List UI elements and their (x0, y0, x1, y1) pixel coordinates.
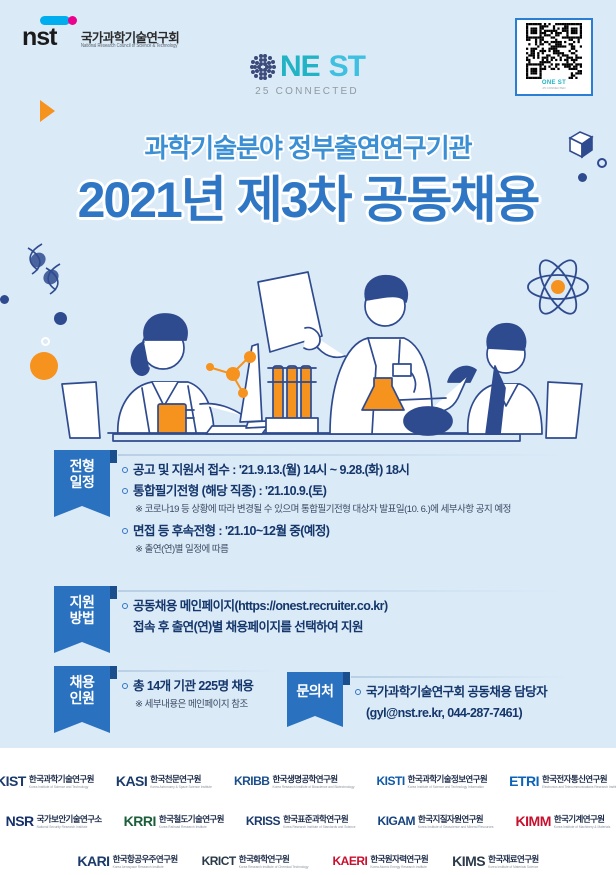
page-title: 2021년 제3차 공동채용 (0, 160, 616, 232)
partner-logo-english: Korea Institute of Science and Technolog… (408, 785, 487, 789)
partner-logo-mark: KIST (0, 773, 26, 789)
method-item-0-text[interactable]: 공동채용 메인페이지(https://onest.recruiter.co.kr… (133, 597, 592, 615)
partner-logo: KRIBB한국생명공학연구원Korea Research Institute o… (234, 766, 355, 796)
triangle-accent-icon (40, 100, 55, 122)
section-method-divider (118, 590, 568, 592)
logo-row-2: NSR국가보안기술연구소National Security Research I… (0, 806, 616, 836)
partner-logo-mark: KRISS (246, 814, 280, 828)
partner-logo-korean: 한국항공우주연구원 (113, 853, 178, 865)
partner-logo-english: Korea Astronomy & Space Science Institut… (150, 785, 212, 789)
partner-logo-english: Korea Research Institute of Bioscience a… (272, 785, 354, 789)
laboratory-illustration (0, 236, 616, 444)
partner-logo: KAERI한국원자력연구원Korea Atomic Energy Researc… (332, 846, 428, 875)
partner-logo-korean: 한국기계연구원 (554, 813, 611, 825)
section-headcount-tag: 채용 인원 (54, 666, 110, 722)
partner-logo: KIST한국과학기술연구원Korea Institute of Science … (0, 766, 94, 796)
logo-row-1: KIST한국과학기술연구원Korea Institute of Science … (0, 766, 616, 796)
schedule-item-1-note: ※ 코로나19 등 상황에 따라 변경될 수 있으며 통합필기전형 대상자 발표… (135, 503, 592, 516)
tag-fold-decoration (110, 450, 117, 463)
qr-code[interactable]: ONE ST 25 CONNECTED (515, 18, 593, 96)
partner-logo-mark: KRIBB (234, 774, 270, 788)
partner-logo-korean: 한국화학연구원 (239, 853, 309, 865)
nst-logo: nst 국가과학기술연구회 National Research Council … (22, 14, 182, 58)
partner-logo-korean: 한국지질자원연구원 (418, 813, 493, 825)
logo-row-3: KARI한국항공우주연구원Korea Aerospace Research In… (0, 846, 616, 875)
partner-logo-mark: KASI (116, 773, 147, 789)
partner-logo-english: Korea Institute of Machinery & Materials (554, 825, 611, 829)
onest-subtitle: 25 CONNECTED (232, 86, 382, 97)
method-item-0-continuation: 접속 후 출연(연)별 채용페이지를 선택하여 지원 (133, 618, 592, 636)
partner-logo-mark: NSR (6, 813, 34, 829)
partner-logo-mark: ETRI (509, 773, 539, 789)
qr-code-pattern (520, 23, 588, 79)
partner-logo: KARI한국항공우주연구원Korea Aerospace Research In… (77, 846, 177, 875)
section-method-tag-line2: 방법 (54, 610, 110, 626)
section-headcount-tag-line2: 인원 (54, 690, 110, 706)
list-item[interactable]: 공동채용 메인페이지(https://onest.recruiter.co.kr… (122, 597, 592, 615)
schedule-item-0-text: 공고 및 지원서 접수 : '21.9.13.(월) 14시 ~ 9.28.(화… (133, 461, 592, 479)
section-headcount-body: 총 14개 기관 225명 채용 ※ 세부내용은 메인페이지 참조 (122, 677, 302, 716)
onest-logo: NE ST 25 CONNECTED (232, 52, 382, 104)
dot-decoration-right (578, 173, 587, 182)
contact-item-0-continuation[interactable]: (gyl@nst.re.kr, 044-287-7461) (366, 704, 590, 722)
partner-logo-mark: KIMS (452, 853, 485, 869)
onest-ne-text: NE (280, 52, 320, 82)
partner-logo: NSR국가보안기술연구소National Security Research I… (6, 806, 102, 836)
partner-logo-english: Electronics and Telecommunications Resea… (542, 785, 616, 789)
section-method-tag: 지원 방법 (54, 586, 110, 642)
partner-logo: KISTI한국과학기술정보연구원Korea Institute of Scien… (377, 766, 488, 796)
schedule-item-2-text: 면접 등 후속전형 : '21.10~12월 중(예정) (133, 522, 592, 540)
cube-icon (566, 128, 596, 160)
tag-fold-decoration (110, 586, 117, 599)
partner-logo-english: Korea Institute of Materials Science (488, 865, 539, 869)
qr-caption-sub: 25 CONNECTED (520, 86, 588, 90)
partner-logo: ETRI한국전자통신연구원Electronics and Telecommuni… (509, 766, 616, 796)
tag-fold-decoration (110, 666, 117, 679)
partner-logo-english: National Security Research Institute (37, 825, 102, 829)
section-method-body: 공동채용 메인페이지(https://onest.recruiter.co.kr… (122, 597, 592, 636)
partner-logo-korean: 한국천문연구원 (150, 773, 212, 785)
list-item: 총 14개 기관 225명 채용 (122, 677, 302, 695)
partner-logo-mark: KIMM (516, 813, 551, 829)
partner-logo-mark: KISTI (377, 774, 405, 788)
schedule-item-2-note: ※ 출연(연)별 일정에 따름 (135, 543, 592, 556)
tag-fold-decoration (343, 672, 350, 685)
section-schedule-tag-line2: 일정 (54, 474, 110, 490)
section-schedule-tag: 전형 일정 (54, 450, 110, 506)
section-schedule-tag-line1: 전형 (54, 458, 110, 474)
onest-ring-icon (249, 53, 277, 81)
partner-logo-korean: 한국전자통신연구원 (542, 773, 616, 785)
section-headcount-tag-line1: 채용 (54, 674, 110, 690)
list-item: 공고 및 지원서 접수 : '21.9.13.(월) 14시 ~ 9.28.(화… (122, 461, 592, 479)
partner-logo-korean: 한국표준과학연구원 (283, 813, 355, 825)
partner-logo-english: Korea Railroad Research Institute (159, 825, 224, 829)
partner-logo-mark: KARI (77, 853, 109, 869)
partner-logo: KIGAM한국지질자원연구원Korea Institute of Geoscie… (378, 806, 494, 836)
partner-logo: KASI한국천문연구원Korea Astronomy & Space Scien… (116, 766, 212, 796)
section-contact-tag-line1: 문의처 (287, 683, 343, 699)
section-schedule: 전형 일정 (54, 450, 110, 506)
partner-logo-korean: 한국생명공학연구원 (272, 773, 354, 785)
section-headcount-divider (118, 670, 278, 672)
partner-logo: KRRI한국철도기술연구원Korea Railroad Research Ins… (124, 806, 224, 836)
partner-logo-korean: 국가보안기술연구소 (37, 813, 102, 825)
partner-logo-mark: KIGAM (378, 814, 416, 828)
poster-root: nst 국가과학기술연구회 National Research Council … (0, 0, 616, 875)
partner-logo-english: Korea Aerospace Research Institute (113, 865, 178, 869)
headcount-item-0-text: 총 14개 기관 225명 채용 (133, 677, 302, 695)
section-schedule-body: 공고 및 지원서 접수 : '21.9.13.(월) 14시 ~ 9.28.(화… (122, 461, 592, 561)
section-contact-body: 국가과학기술연구회 공동채용 담당자 (gyl@nst.re.kr, 044-2… (355, 683, 590, 722)
partner-logo-korean: 한국원자력연구원 (370, 853, 428, 865)
partner-logo-english: Korea Research Institute of Standards an… (283, 825, 355, 829)
partner-logo: KIMS한국재료연구원Korea Institute of Materials … (452, 846, 539, 875)
partner-logo-mark: KRICT (202, 854, 236, 868)
nst-english-name: National Research Council of Science & T… (81, 42, 178, 48)
partner-logo-korean: 한국과학기술정보연구원 (408, 773, 487, 785)
section-schedule-divider (118, 454, 568, 456)
section-contact-tag: 문의처 (287, 672, 343, 716)
section-method-tag-line1: 지원 (54, 594, 110, 610)
footer-logos: KIST한국과학기술연구원Korea Institute of Science … (0, 748, 616, 875)
partner-logo-korean: 한국철도기술연구원 (159, 813, 224, 825)
partner-logo-korean: 한국재료연구원 (488, 853, 539, 865)
headcount-item-0-note: ※ 세부내용은 메인페이지 참조 (135, 698, 302, 711)
partner-logo-english: Korea Institute of Science and Technolog… (29, 785, 94, 789)
partner-logo: KIMM한국기계연구원Korea Institute of Machinery … (516, 806, 611, 836)
partner-logo-mark: KAERI (332, 854, 367, 868)
section-method: 지원 방법 (54, 586, 110, 642)
section-contact-divider (351, 676, 569, 678)
partner-logo-english: Korea Institute of Geoscience and Minera… (418, 825, 493, 829)
partner-logo-english: Korea Research Institute of Chemical Tec… (239, 865, 309, 869)
nst-wordmark: nst (22, 25, 57, 50)
partner-logo-korean: 한국과학기술연구원 (29, 773, 94, 785)
partner-logo-english: Korea Atomic Energy Research Institute (370, 865, 428, 869)
partner-logo: KRICT한국화학연구원Korea Research Institute of … (202, 846, 309, 875)
onest-st-text: ST (329, 52, 365, 82)
partner-logo-mark: KRRI (124, 813, 156, 829)
schedule-item-1-text: 통합필기전형 (해당 직종) : '21.10.9.(토) (133, 482, 592, 500)
section-contact: 문의처 (287, 672, 343, 716)
contact-item-0-text: 국가과학기술연구회 공동채용 담당자 (366, 683, 590, 701)
partner-logo: KRISS한국표준과학연구원Korea Research Institute o… (246, 806, 356, 836)
section-headcount: 채용 인원 (54, 666, 110, 722)
list-item: 면접 등 후속전형 : '21.10~12월 중(예정) (122, 522, 592, 540)
list-item: 통합필기전형 (해당 직종) : '21.10.9.(토) (122, 482, 592, 500)
list-item: 국가과학기술연구회 공동채용 담당자 (355, 683, 590, 701)
ring-decoration-right (597, 158, 607, 168)
